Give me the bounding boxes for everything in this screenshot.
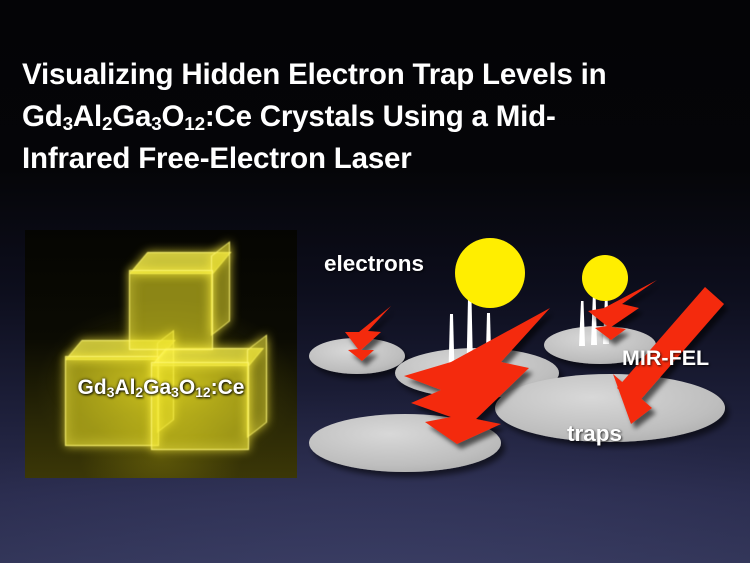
pillar: [579, 301, 585, 346]
electron-circle-large: [455, 238, 525, 308]
cube-side-face: [211, 241, 230, 336]
title-line-2-tail: :Ce Crystals Using a Mid-: [205, 100, 556, 133]
formula-ga: Ga: [112, 100, 151, 133]
title-line-2: Gd3Al2Ga3O12:Ce Crystals Using a Mid-: [22, 96, 728, 138]
crystal-cube-upper: [129, 252, 229, 348]
caption-o: O: [179, 376, 195, 399]
pillar: [591, 292, 597, 345]
formula-sub-12: 12: [184, 113, 205, 134]
formula-gd: Gd: [22, 100, 63, 133]
page-title: Visualizing Hidden Electron Trap Levels …: [22, 54, 728, 180]
formula-sub-3b: 3: [151, 113, 161, 134]
title-line-1-text: Visualizing Hidden Electron Trap Levels …: [22, 58, 606, 91]
caption-ga: Ga: [143, 376, 171, 399]
caption-al: Al: [114, 376, 135, 399]
cube-front-face: [65, 356, 159, 446]
caption-ce: :Ce: [211, 376, 245, 399]
title-line-3: Infrared Free-Electron Laser: [22, 138, 728, 180]
crystal-photo: Gd3Al2Ga3O12:Ce: [25, 230, 297, 478]
label-traps: traps: [567, 421, 622, 447]
cube-front-face: [129, 270, 213, 350]
trap-level-diagram: electrons MIR-FEL traps: [305, 228, 750, 488]
formula-o: O: [162, 100, 185, 133]
label-electrons: electrons: [324, 251, 424, 277]
crystal-formula-caption: Gd3Al2Ga3O12:Ce: [25, 376, 297, 400]
caption-sub-3b: 3: [171, 384, 179, 400]
caption-gd: Gd: [78, 376, 107, 399]
caption-sub-3: 3: [107, 384, 115, 400]
caption-sub-2: 2: [135, 384, 143, 400]
caption-sub-12: 12: [195, 384, 210, 400]
electron-circle-small: [582, 255, 628, 301]
formula-sub-2: 2: [102, 113, 112, 134]
presentation-slide: Visualizing Hidden Electron Trap Levels …: [0, 0, 750, 563]
formula-al: Al: [73, 100, 102, 133]
title-line-1: Visualizing Hidden Electron Trap Levels …: [22, 54, 728, 96]
title-line-3-text: Infrared Free-Electron Laser: [22, 142, 412, 175]
label-mir-fel: MIR-FEL: [622, 346, 709, 371]
formula-sub-3: 3: [63, 113, 73, 134]
